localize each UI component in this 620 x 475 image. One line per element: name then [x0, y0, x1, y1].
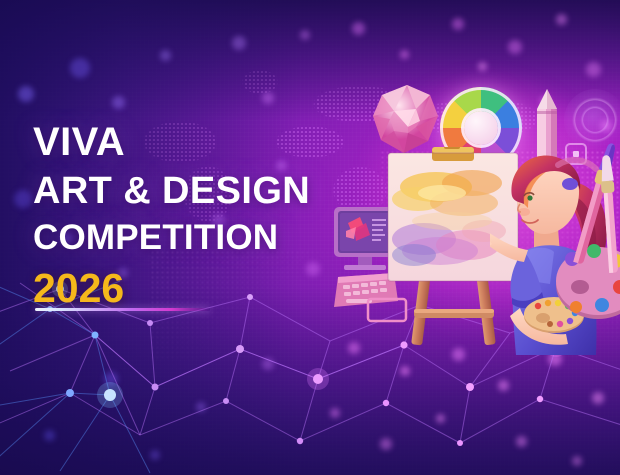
- low-poly-sphere-icon: [368, 83, 446, 155]
- headline-block: VIVA ART & DESIGN COMPETITION 2026: [33, 122, 333, 312]
- poster-canvas: VIVA ART & DESIGN COMPETITION 2026: [0, 0, 620, 475]
- paintbrushes-and-palette-icon: [550, 135, 620, 335]
- headline-year: 2026: [33, 265, 333, 312]
- headline-line-3: COMPETITION: [33, 220, 333, 255]
- headline-line-1: VIVA: [33, 122, 333, 162]
- illustration-group: [330, 55, 620, 355]
- headline-line-2: ART & DESIGN: [33, 172, 333, 210]
- headline-divider-rule: [35, 308, 210, 311]
